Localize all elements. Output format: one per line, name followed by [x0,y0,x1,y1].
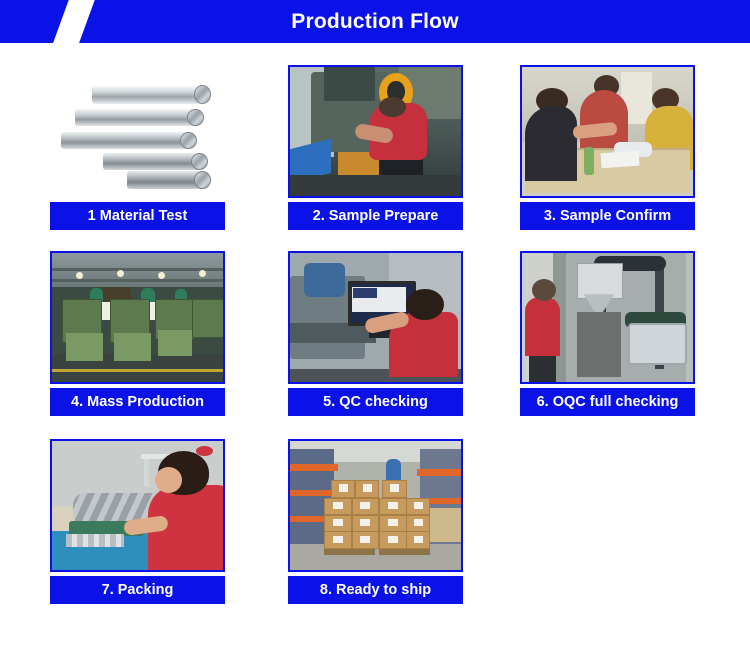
photo-sample-confirm [520,65,695,198]
photo-sample-prepare [288,65,463,198]
photo-oqc-full-checking [520,251,695,384]
warehouse-cartons-illustration [290,441,461,570]
step-card-6[interactable]: 6. OQC full checking [520,251,695,416]
qc-measuring-illustration [290,253,461,382]
step-label-4: 4. Mass Production [50,388,225,416]
step-card-4[interactable]: 4. Mass Production [50,251,225,416]
photo-mass-production [50,251,225,384]
steel-bars-illustration [50,65,225,198]
step-label-8: 8. Ready to ship [288,576,463,604]
step-card-1[interactable]: 1 Material Test [50,65,225,230]
step-card-5[interactable]: 5. QC checking [288,251,463,416]
sample-inspection-illustration [522,67,693,196]
page-title: Production Flow [0,0,750,43]
step-card-8[interactable]: 8. Ready to ship [288,439,463,604]
step-label-1: 1 Material Test [50,202,225,230]
packing-illustration [52,441,223,570]
factory-floor-illustration [52,253,223,382]
step-label-2: 2. Sample Prepare [288,202,463,230]
photo-packing [50,439,225,572]
step-label-6: 6. OQC full checking [520,388,695,416]
photo-ready-to-ship [288,439,463,572]
oqc-hopper-illustration [522,253,693,382]
photo-qc-checking [288,251,463,384]
step-label-7: 7. Packing [50,576,225,604]
step-card-7[interactable]: 7. Packing [50,439,225,604]
step-label-3: 3. Sample Confirm [520,202,695,230]
press-machine-illustration [290,67,461,196]
production-flow-grid: 1 Material Test 2. Sample Prepare [0,43,750,647]
step-card-3[interactable]: 3. Sample Confirm [520,65,695,230]
step-card-2[interactable]: 2. Sample Prepare [288,65,463,230]
photo-material-test [50,65,225,198]
page-header: Production Flow [0,0,750,43]
step-label-5: 5. QC checking [288,388,463,416]
